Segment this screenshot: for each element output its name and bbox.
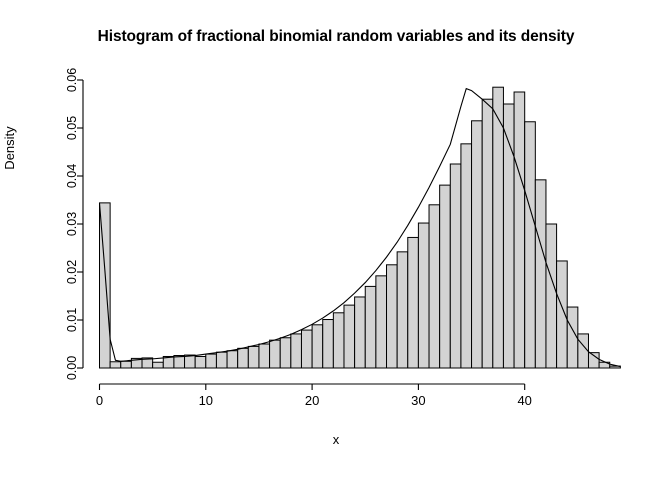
x-axis: 010203040 xyxy=(96,384,532,408)
histogram-bar xyxy=(429,205,440,368)
y-axis-tick-label: 0.02 xyxy=(65,260,79,284)
histogram-bar xyxy=(280,338,291,368)
y-axis-tick-label: 0.04 xyxy=(65,164,79,188)
histogram-bar xyxy=(227,351,238,368)
histogram-bar xyxy=(344,305,355,368)
histogram-bar xyxy=(248,346,259,368)
histogram-bar xyxy=(301,330,312,368)
plot-canvas: 0.000.010.020.030.040.050.06 010203040 xyxy=(0,0,672,480)
histogram-bar xyxy=(546,224,557,368)
histogram-bar xyxy=(376,276,387,368)
histogram-bar xyxy=(514,92,525,368)
histogram-bar xyxy=(206,354,217,368)
histogram-bar xyxy=(291,334,302,368)
histogram-bar xyxy=(397,252,408,368)
histogram-bar xyxy=(567,307,578,368)
histogram-bar xyxy=(461,144,472,368)
y-axis-tick-label: 0.05 xyxy=(65,116,79,140)
histogram-bar xyxy=(333,313,344,368)
histogram-bar xyxy=(482,99,493,368)
y-axis-tick-label: 0.00 xyxy=(65,356,79,380)
histogram-bar xyxy=(408,237,419,368)
y-axis-tick-label: 0.01 xyxy=(65,308,79,332)
histogram-bar xyxy=(216,352,227,368)
y-axis-tick-label: 0.06 xyxy=(65,68,79,92)
histogram-bar xyxy=(557,261,568,368)
x-axis-tick-label: 40 xyxy=(517,393,531,408)
histogram-bar xyxy=(121,361,132,368)
histogram-bar xyxy=(525,122,536,368)
histogram-plot: Histogram of fractional binomial random … xyxy=(0,0,672,480)
histogram-bar xyxy=(195,356,206,368)
histogram-bar xyxy=(270,340,281,368)
y-axis-tick-label: 0.03 xyxy=(65,212,79,236)
histogram-bar xyxy=(355,297,366,368)
histogram-bar xyxy=(110,362,121,368)
histogram-bar xyxy=(323,320,334,368)
histogram-bar xyxy=(153,362,164,368)
histogram-bar xyxy=(387,265,398,368)
y-axis: 0.000.010.020.030.040.050.06 xyxy=(65,68,83,380)
x-axis-tick-label: 10 xyxy=(199,393,213,408)
histogram-bar xyxy=(365,286,376,368)
histogram-bars xyxy=(100,87,621,368)
x-axis-tick-label: 20 xyxy=(305,393,319,408)
histogram-bar xyxy=(185,355,196,368)
histogram-bar xyxy=(450,164,461,368)
histogram-bar xyxy=(472,121,483,368)
histogram-bar xyxy=(493,87,504,368)
histogram-bar xyxy=(535,180,546,368)
x-axis-tick-label: 0 xyxy=(96,393,103,408)
histogram-bar xyxy=(440,185,451,368)
histogram-bar xyxy=(238,348,249,368)
histogram-bar xyxy=(312,325,323,368)
histogram-bar xyxy=(418,223,429,368)
x-axis-tick-label: 30 xyxy=(411,393,425,408)
histogram-bar xyxy=(259,344,270,368)
histogram-bar xyxy=(578,334,589,368)
